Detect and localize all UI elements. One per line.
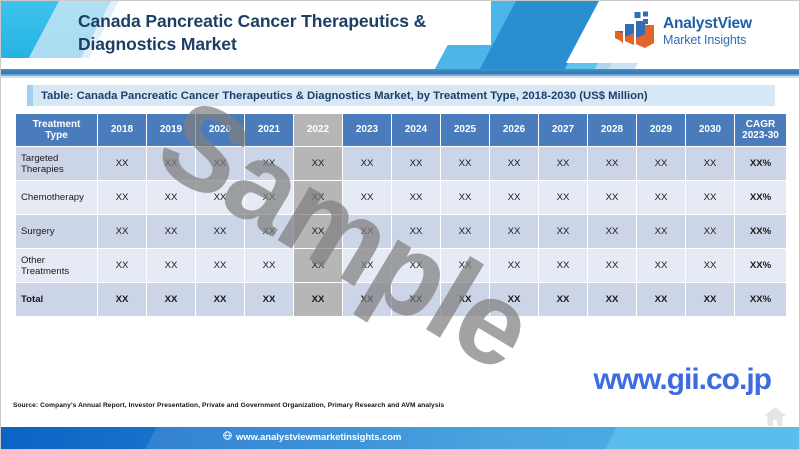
table-cell: XX	[147, 249, 196, 283]
table-cell: XX	[637, 181, 686, 215]
table-cell: XX	[392, 249, 441, 283]
table-cell: XX	[539, 147, 588, 181]
table-col-header-treatment-type: TreatmentType	[16, 114, 98, 147]
table-cell: XX	[245, 181, 294, 215]
row-label: Surgery	[16, 215, 98, 249]
table-cell: XX	[392, 147, 441, 181]
table-col-header-2022: 2022	[294, 114, 343, 147]
table-cell: XX	[196, 147, 245, 181]
table-cell-cagr: XX%	[735, 215, 787, 249]
table-cell: XX	[539, 283, 588, 317]
table-cell: XX	[294, 181, 343, 215]
table-cell: XX	[343, 249, 392, 283]
slide-header: Canada Pancreatic Cancer Therapeutics & …	[1, 1, 800, 71]
table-cell: XX	[490, 181, 539, 215]
table-cell: XX	[196, 283, 245, 317]
table-header-row: TreatmentType201820192020202120222023202…	[16, 114, 787, 147]
table-cell: XX	[245, 283, 294, 317]
table-col-header-2021: 2021	[245, 114, 294, 147]
table-row: ChemotherapyXXXXXXXXXXXXXXXXXXXXXXXXXXXX…	[16, 181, 787, 215]
table-cell-cagr: XX%	[735, 283, 787, 317]
table-row: TotalXXXXXXXXXXXXXXXXXXXXXXXXXXXX%	[16, 283, 787, 317]
table-cell: XX	[98, 249, 147, 283]
table-cell: XX	[539, 249, 588, 283]
table-col-header-2026: 2026	[490, 114, 539, 147]
table-cell: XX	[490, 249, 539, 283]
table-col-header-2023: 2023	[343, 114, 392, 147]
table-row: Other TreatmentsXXXXXXXXXXXXXXXXXXXXXXXX…	[16, 249, 787, 283]
table-cell-cagr: XX%	[735, 181, 787, 215]
table-cell: XX	[637, 215, 686, 249]
table-cell: XX	[490, 215, 539, 249]
footer-url-text: www.analystviewmarketinsights.com	[236, 431, 401, 442]
table-body: Targeted TherapiesXXXXXXXXXXXXXXXXXXXXXX…	[16, 147, 787, 317]
table-col-header-2028: 2028	[588, 114, 637, 147]
table-cell: XX	[392, 215, 441, 249]
table-col-header-2030: 2030	[686, 114, 735, 147]
table-col-header-2024: 2024	[392, 114, 441, 147]
row-label: Total	[16, 283, 98, 317]
table-cell: XX	[343, 283, 392, 317]
table-cell: XX	[686, 147, 735, 181]
table-cell: XX	[686, 181, 735, 215]
table-cell: XX	[588, 249, 637, 283]
table-row: SurgeryXXXXXXXXXXXXXXXXXXXXXXXXXXXX%	[16, 215, 787, 249]
logo-brand-name: AnalystView	[663, 16, 752, 32]
table-cell: XX	[147, 283, 196, 317]
table-title: Table: Canada Pancreatic Cancer Therapeu…	[33, 90, 648, 102]
header-divider	[1, 69, 800, 76]
table-cell: XX	[294, 283, 343, 317]
row-label: Targeted Therapies	[16, 147, 98, 181]
table-row: Targeted TherapiesXXXXXXXXXXXXXXXXXXXXXX…	[16, 147, 787, 181]
table-head: TreatmentType201820192020202120222023202…	[16, 114, 787, 147]
table-cell: XX	[490, 147, 539, 181]
slide-footer: www.analystviewmarketinsights.com	[1, 427, 800, 449]
table-cell: XX	[196, 181, 245, 215]
table-cell: XX	[588, 181, 637, 215]
table-cell: XX	[98, 181, 147, 215]
table-cell: XX	[245, 215, 294, 249]
table-cell: XX	[196, 215, 245, 249]
table-cell: XX	[196, 249, 245, 283]
table-cell: XX	[637, 283, 686, 317]
logo-text: AnalystView Market Insights	[663, 16, 752, 47]
globe-icon	[223, 431, 232, 442]
table-cell-cagr: XX%	[735, 147, 787, 181]
table-col-header-2019: 2019	[147, 114, 196, 147]
brand-logo: AnalystView Market Insights	[614, 11, 752, 51]
table-cell: XX	[147, 181, 196, 215]
table-cell: XX	[147, 215, 196, 249]
table-cell: XX	[147, 147, 196, 181]
slide-canvas: Canada Pancreatic Cancer Therapeutics & …	[0, 0, 800, 450]
table-col-header-2018: 2018	[98, 114, 147, 147]
table-cell: XX	[588, 283, 637, 317]
table-cell: XX	[441, 147, 490, 181]
table-cell: XX	[294, 215, 343, 249]
table-col-header-2029: 2029	[637, 114, 686, 147]
table-col-header-2027: 2027	[539, 114, 588, 147]
table-cell: XX	[245, 249, 294, 283]
table-cell: XX	[686, 215, 735, 249]
table-cell: XX	[98, 147, 147, 181]
bar-chart-logo-icon	[614, 11, 656, 51]
table-cell: XX	[343, 215, 392, 249]
gii-site-watermark: www.gii.co.jp	[593, 363, 771, 397]
footer-decoration-band-2	[605, 427, 800, 449]
table-cell: XX	[588, 147, 637, 181]
market-data-table: TreatmentType201820192020202120222023202…	[15, 113, 787, 317]
source-note: Source: Company’s Annual Report, Investo…	[13, 402, 444, 409]
table-cell: XX	[343, 181, 392, 215]
table-col-header-2025: 2025	[441, 114, 490, 147]
table-cell: XX	[441, 181, 490, 215]
table-cell: XX	[441, 215, 490, 249]
home-icon	[763, 405, 787, 427]
table-cell: XX	[392, 283, 441, 317]
table-cell: XX	[637, 249, 686, 283]
footer-website[interactable]: www.analystviewmarketinsights.com	[223, 431, 401, 442]
table-cell: XX	[637, 147, 686, 181]
table-cell: XX	[539, 181, 588, 215]
table-cell: XX	[490, 283, 539, 317]
table-title-bar: Table: Canada Pancreatic Cancer Therapeu…	[27, 85, 775, 106]
page-title: Canada Pancreatic Cancer Therapeutics & …	[78, 10, 498, 56]
table-cell: XX	[686, 283, 735, 317]
row-label: Chemotherapy	[16, 181, 98, 215]
table-cell: XX	[686, 249, 735, 283]
table-cell: XX	[539, 215, 588, 249]
header-divider-light	[1, 76, 800, 78]
row-label: Other Treatments	[16, 249, 98, 283]
logo-brand-subtitle: Market Insights	[663, 34, 752, 47]
table-cell: XX	[441, 283, 490, 317]
table-cell: XX	[588, 215, 637, 249]
table-cell: XX	[294, 249, 343, 283]
table-cell: XX	[294, 147, 343, 181]
table-cell: XX	[245, 147, 294, 181]
table-cell-cagr: XX%	[735, 249, 787, 283]
table-col-header-2020: 2020	[196, 114, 245, 147]
table-cell: XX	[98, 215, 147, 249]
table-cell: XX	[392, 181, 441, 215]
table-col-header-cagr-2023-30: CAGR2023-30	[735, 114, 787, 147]
table-cell: XX	[343, 147, 392, 181]
table-cell: XX	[98, 283, 147, 317]
table-cell: XX	[441, 249, 490, 283]
